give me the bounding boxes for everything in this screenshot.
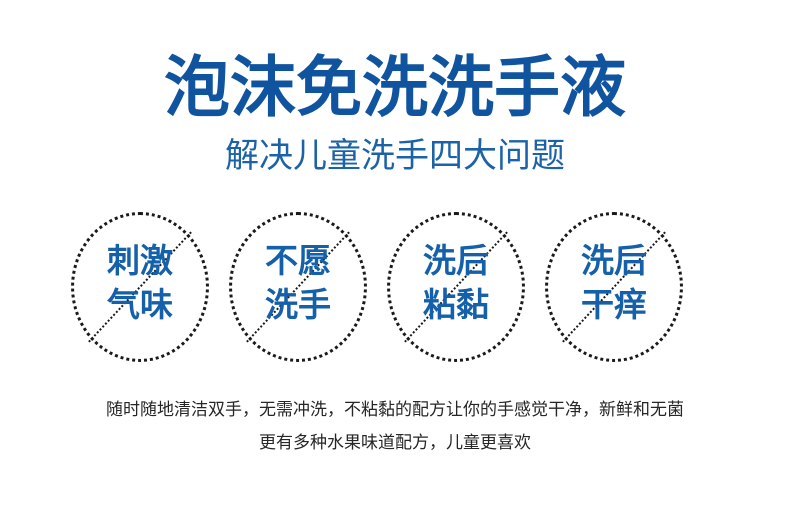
problem-badge: 刺激 气味 [71, 212, 209, 362]
problem-badge-row: 刺激 气味 不愿 洗手 洗后 粘黏 洗后 干痒 [0, 212, 790, 364]
problem-badge: 洗后 粘黏 [387, 212, 525, 362]
problem-badge-label: 不愿 洗手 [229, 239, 367, 327]
problem-badge-label: 洗后 粘黏 [387, 239, 525, 327]
page-title: 泡沫免洗洗手液 [0, 50, 790, 126]
problem-badge-line-1: 洗后 [545, 239, 683, 283]
problem-badge-line-1: 刺激 [71, 239, 209, 283]
problem-badge-line-2: 洗手 [229, 283, 367, 327]
page-subtitle: 解决儿童洗手四大问题 [0, 134, 790, 178]
problem-badge: 不愿 洗手 [229, 212, 367, 362]
problem-badge-label: 洗后 干痒 [545, 239, 683, 327]
problem-badge-line-2: 粘黏 [387, 283, 525, 327]
problem-badge-line-2: 气味 [71, 283, 209, 327]
problem-badge-line-1: 洗后 [387, 239, 525, 283]
problem-badge: 洗后 干痒 [545, 212, 683, 362]
problem-badge-label: 刺激 气味 [71, 239, 209, 327]
description-line-1: 随时随地清洁双手，无需冲洗，不粘黏的配方让你的手感觉干净，新鲜和无菌 [0, 394, 790, 427]
description-block: 随时随地清洁双手，无需冲洗，不粘黏的配方让你的手感觉干净，新鲜和无菌 更有多种水… [0, 394, 790, 460]
problem-badge-line-1: 不愿 [229, 239, 367, 283]
problem-badge-line-2: 干痒 [545, 283, 683, 327]
description-line-2: 更有多种水果味道配方，儿童更喜欢 [0, 427, 790, 460]
product-feature-poster: 泡沫免洗洗手液 解决儿童洗手四大问题 刺激 气味 不愿 洗手 洗后 粘黏 [0, 0, 790, 507]
